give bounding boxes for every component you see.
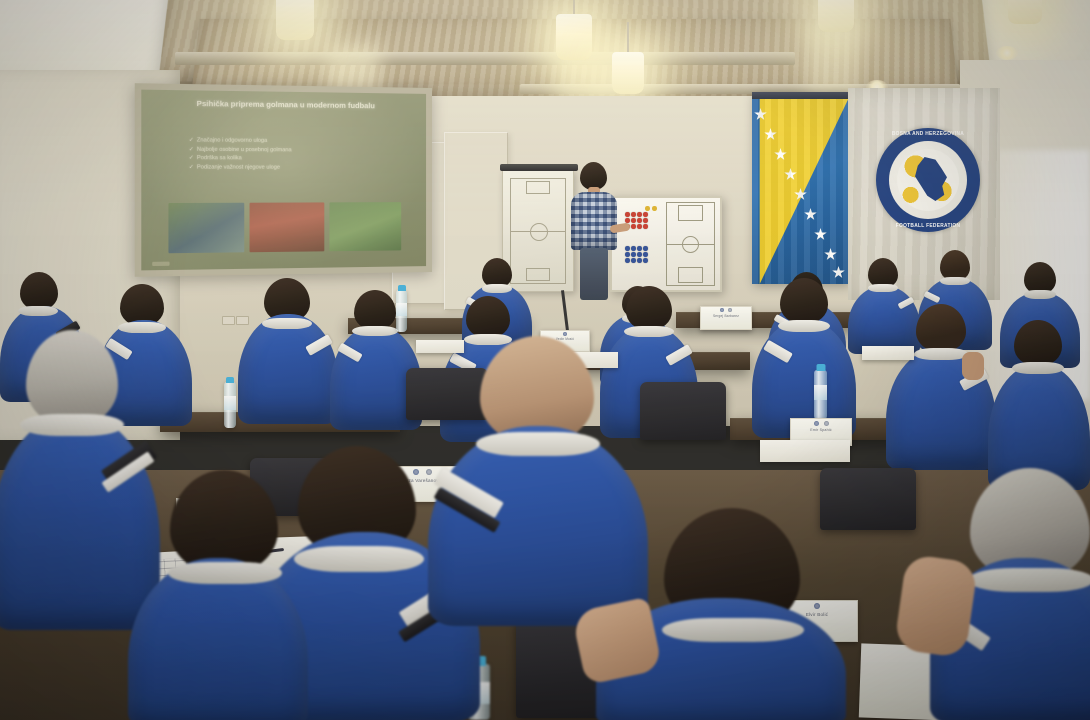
water-bottle[interactable] xyxy=(396,290,407,332)
seminar-room-photo: Psihička priprema golmana u modernom fud… xyxy=(0,0,1090,720)
jacket-collar xyxy=(1024,290,1056,299)
flag-fabric-folds xyxy=(752,92,848,284)
center-circle xyxy=(682,236,699,253)
bosnia-herzegovina-flag xyxy=(752,92,848,284)
projection-screen: Psihička priprema golmana u modernom fud… xyxy=(135,83,432,277)
water-bottle[interactable] xyxy=(224,382,236,428)
flag-rail xyxy=(752,92,848,99)
slide-bullet-list: Značajno i odgovorno uloga Najbolje osob… xyxy=(189,136,405,172)
wall-socket xyxy=(222,316,235,325)
jacket-collar xyxy=(476,432,600,456)
attendee-front-right-2 xyxy=(930,468,1090,720)
jacket-collar xyxy=(482,284,512,293)
attendee-head xyxy=(1014,320,1062,366)
attendee-head-grey xyxy=(26,330,118,426)
jacket-collar xyxy=(914,348,968,360)
projected-slide: Psihička priprema golmana u modernom fud… xyxy=(141,90,426,271)
name-card-logos xyxy=(814,421,829,426)
bottle-label xyxy=(814,385,827,400)
federation-logo-icon xyxy=(720,308,724,312)
slide-photo-team-red xyxy=(250,202,324,252)
slide-photo-pitch xyxy=(329,202,401,251)
jacket-collar xyxy=(778,320,830,332)
sponsor-logo-icon xyxy=(728,308,732,312)
federation-crest: BOSNA AND HERZEGOVINA FOOTBALL FEDERATIO… xyxy=(876,128,980,232)
attendee-mid-left-3 xyxy=(238,278,338,424)
attendee-jacket xyxy=(238,314,338,424)
name-card-text: Emir Spahić xyxy=(810,428,832,432)
yellow-magnet xyxy=(645,206,650,211)
attendee-mid-right-3 xyxy=(886,304,996,470)
goal-box-top xyxy=(526,181,550,194)
recessed-downlight xyxy=(996,46,1018,60)
jacket-collar xyxy=(940,277,970,285)
whiteboard-pitch xyxy=(666,202,715,286)
bottle-label xyxy=(396,303,407,316)
bottle-cap xyxy=(226,377,234,383)
sponsor-logo-icon xyxy=(824,421,829,426)
jacket-collar xyxy=(1012,362,1064,374)
attendee-head xyxy=(20,272,58,310)
blue-magnet-group xyxy=(625,246,648,263)
ceiling-beam xyxy=(175,52,795,65)
crest-text-top: BOSNA AND HERZEGOVINA xyxy=(879,131,977,137)
name-card-text: Sergej Barbarez xyxy=(713,314,739,318)
penalty-box-bottom xyxy=(678,267,702,283)
attendee-front-left-3 xyxy=(128,470,308,720)
attendee-head xyxy=(626,286,672,330)
jacket-collar xyxy=(352,326,398,336)
water-bottle[interactable] xyxy=(814,370,827,420)
crest-year: 1992 xyxy=(924,171,933,176)
jacket-collar xyxy=(294,546,424,572)
attendee-head xyxy=(916,304,966,352)
yellow-magnet xyxy=(652,206,657,211)
handout-sheet[interactable] xyxy=(760,440,850,462)
handout-sheet[interactable] xyxy=(862,346,914,360)
jacket-collar xyxy=(662,618,804,642)
presenter-shirt xyxy=(571,192,617,250)
bottle-cap xyxy=(398,285,406,291)
pendant-light xyxy=(276,0,314,40)
bottle-cap xyxy=(816,364,825,371)
jacket-collar xyxy=(868,284,898,292)
bottle-label xyxy=(224,396,236,410)
jacket-collar xyxy=(968,568,1090,592)
pendant-light xyxy=(556,14,592,60)
tactics-whiteboard xyxy=(610,196,722,292)
name-card-logos xyxy=(720,308,732,312)
slide-bullet: Podizanje važnost njegove uloge xyxy=(189,163,405,172)
jacket-collar xyxy=(20,414,124,436)
attendee-head xyxy=(354,290,396,330)
attendee-head xyxy=(780,278,828,324)
slide-title: Psihička priprema golmana u modernom fud… xyxy=(165,98,404,111)
jacket-collar xyxy=(262,318,312,329)
slide-photo-coach xyxy=(168,203,244,254)
jacket-collar xyxy=(168,562,282,584)
crest-inner-disc: 1992 xyxy=(889,141,967,219)
crest-text-bottom: FOOTBALL FEDERATION xyxy=(879,223,977,229)
chair[interactable] xyxy=(640,382,726,440)
pendant-light xyxy=(612,52,644,94)
slide-footer-logo xyxy=(152,262,169,266)
pendant-light xyxy=(818,0,854,32)
attendee-mid-right-4 xyxy=(988,320,1090,490)
attendee-mid-right-2 xyxy=(752,278,856,438)
jacket-collar xyxy=(18,306,58,316)
presenter-head xyxy=(580,162,607,190)
penalty-box-top xyxy=(678,205,702,221)
attendee-front-right-1 xyxy=(596,508,846,720)
federation-logo-icon xyxy=(814,421,819,426)
hand-on-face xyxy=(962,352,984,380)
presenter xyxy=(566,162,622,298)
slide-photo-strip xyxy=(168,202,401,253)
name-card: Sergej Barbarez xyxy=(700,306,752,330)
attendee-head xyxy=(466,296,510,338)
pendant-light xyxy=(1008,0,1042,24)
